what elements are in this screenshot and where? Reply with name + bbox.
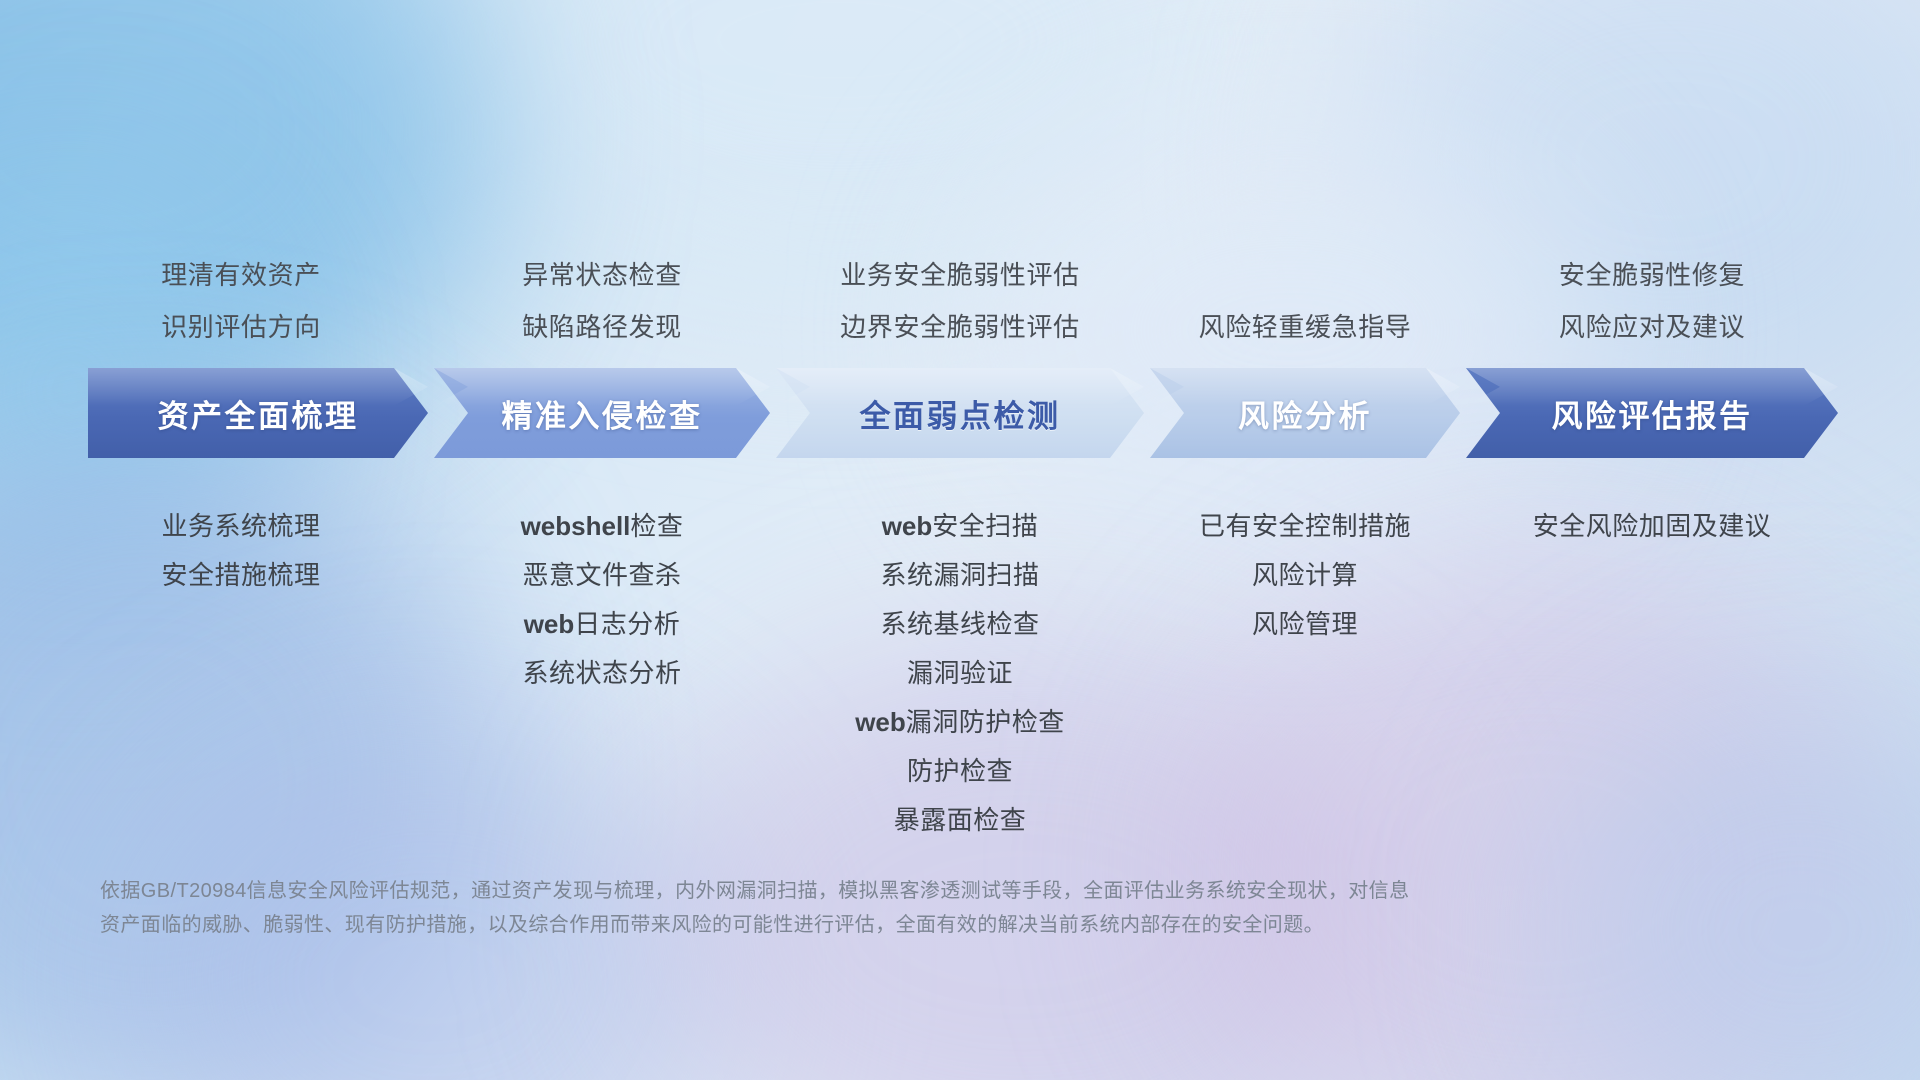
stage-title-risk-analysis: 风险分析 (1238, 391, 1372, 436)
stage-chevron-risk-report[interactable]: 风险评估报告 (1466, 368, 1838, 458)
stage-bottom-item-text: 日志分析 (574, 609, 680, 639)
stage-bottom-item: 风险管理 (1095, 611, 1515, 637)
stage-chevron-risk-analysis[interactable]: 风险分析 (1150, 368, 1460, 458)
footer-description: 依据GB/T20984信息安全风险评估规范，通过资产发现与梳理，内外网漏洞扫描，… (100, 874, 1590, 942)
stage-bottom-item-text: 漏洞防护检查 (906, 707, 1065, 737)
stage-top-item: 风险应对及建议 (1442, 314, 1862, 340)
footer-line-2: 资产面临的威胁、脆弱性、现有防护措施，以及综合作用而带来风险的可能性进行评估，全… (100, 908, 1590, 942)
stage-top-list-risk-report: 安全脆弱性修复风险应对及建议 (1442, 230, 1862, 340)
footer-line-1: 依据GB/T20984信息安全风险评估规范，通过资产发现与梳理，内外网漏洞扫描，… (100, 874, 1590, 908)
process-diagram: 资产全面梳理精准入侵检查全面弱点检测风险分析风险评估报告 理清有效资产识别评估方… (0, 0, 1920, 1080)
stage-bottom-item: 风险计算 (1095, 562, 1515, 588)
stage-bottom-item-prefix: web (855, 707, 906, 737)
stage-top-item: 识别评估方向 (31, 314, 451, 340)
stage-bottom-item-prefix: webshell (521, 511, 631, 541)
stage-bottom-item-prefix: web (524, 609, 575, 639)
stage-bottom-item-text: 安全扫描 (932, 511, 1038, 541)
stage-chevron-weakness-detection[interactable]: 全面弱点检测 (776, 368, 1144, 458)
stage-chevron-asset-inventory[interactable]: 资产全面梳理 (88, 368, 428, 458)
stage-bottom-item: 业务系统梳理 (31, 513, 451, 539)
stage-title-weakness-detection: 全面弱点检测 (860, 391, 1061, 436)
stage-top-list-asset-inventory: 理清有效资产识别评估方向 (31, 230, 451, 340)
stage-bottom-item: 安全风险加固及建议 (1442, 513, 1862, 539)
stage-chevron-band: 资产全面梳理精准入侵检查全面弱点检测风险分析风险评估报告 (88, 368, 1848, 458)
stage-top-item: 缺陷路径发现 (392, 314, 812, 340)
stage-top-item: 安全脆弱性修复 (1442, 262, 1862, 288)
stage-top-list-intrusion-check: 异常状态检查缺陷路径发现 (392, 230, 812, 340)
stage-bottom-item: 防护检查 (750, 758, 1170, 784)
stage-top-item: 异常状态检查 (392, 262, 812, 288)
stage-title-asset-inventory: 资产全面梳理 (158, 391, 359, 436)
stage-bottom-item: 恶意文件查杀 (392, 562, 812, 588)
stage-top-item: 理清有效资产 (31, 262, 451, 288)
stage-bottom-item: 安全措施梳理 (31, 562, 451, 588)
stage-bottom-item: 系统状态分析 (392, 660, 812, 686)
stage-bottom-item: web漏洞防护检查 (750, 709, 1170, 735)
stage-chevron-intrusion-check[interactable]: 精准入侵检查 (434, 368, 770, 458)
stage-bottom-item: 漏洞验证 (750, 660, 1170, 686)
stage-bottom-item-text: 检查 (630, 511, 683, 541)
stage-bottom-item-prefix: web (882, 511, 933, 541)
stage-bottom-item: webshell检查 (392, 513, 812, 539)
stage-bottom-item: web日志分析 (392, 611, 812, 637)
stage-bottom-item: 暴露面检查 (750, 807, 1170, 833)
stage-title-intrusion-check: 精准入侵检查 (502, 391, 703, 436)
stage-title-risk-report: 风险评估报告 (1552, 391, 1753, 436)
